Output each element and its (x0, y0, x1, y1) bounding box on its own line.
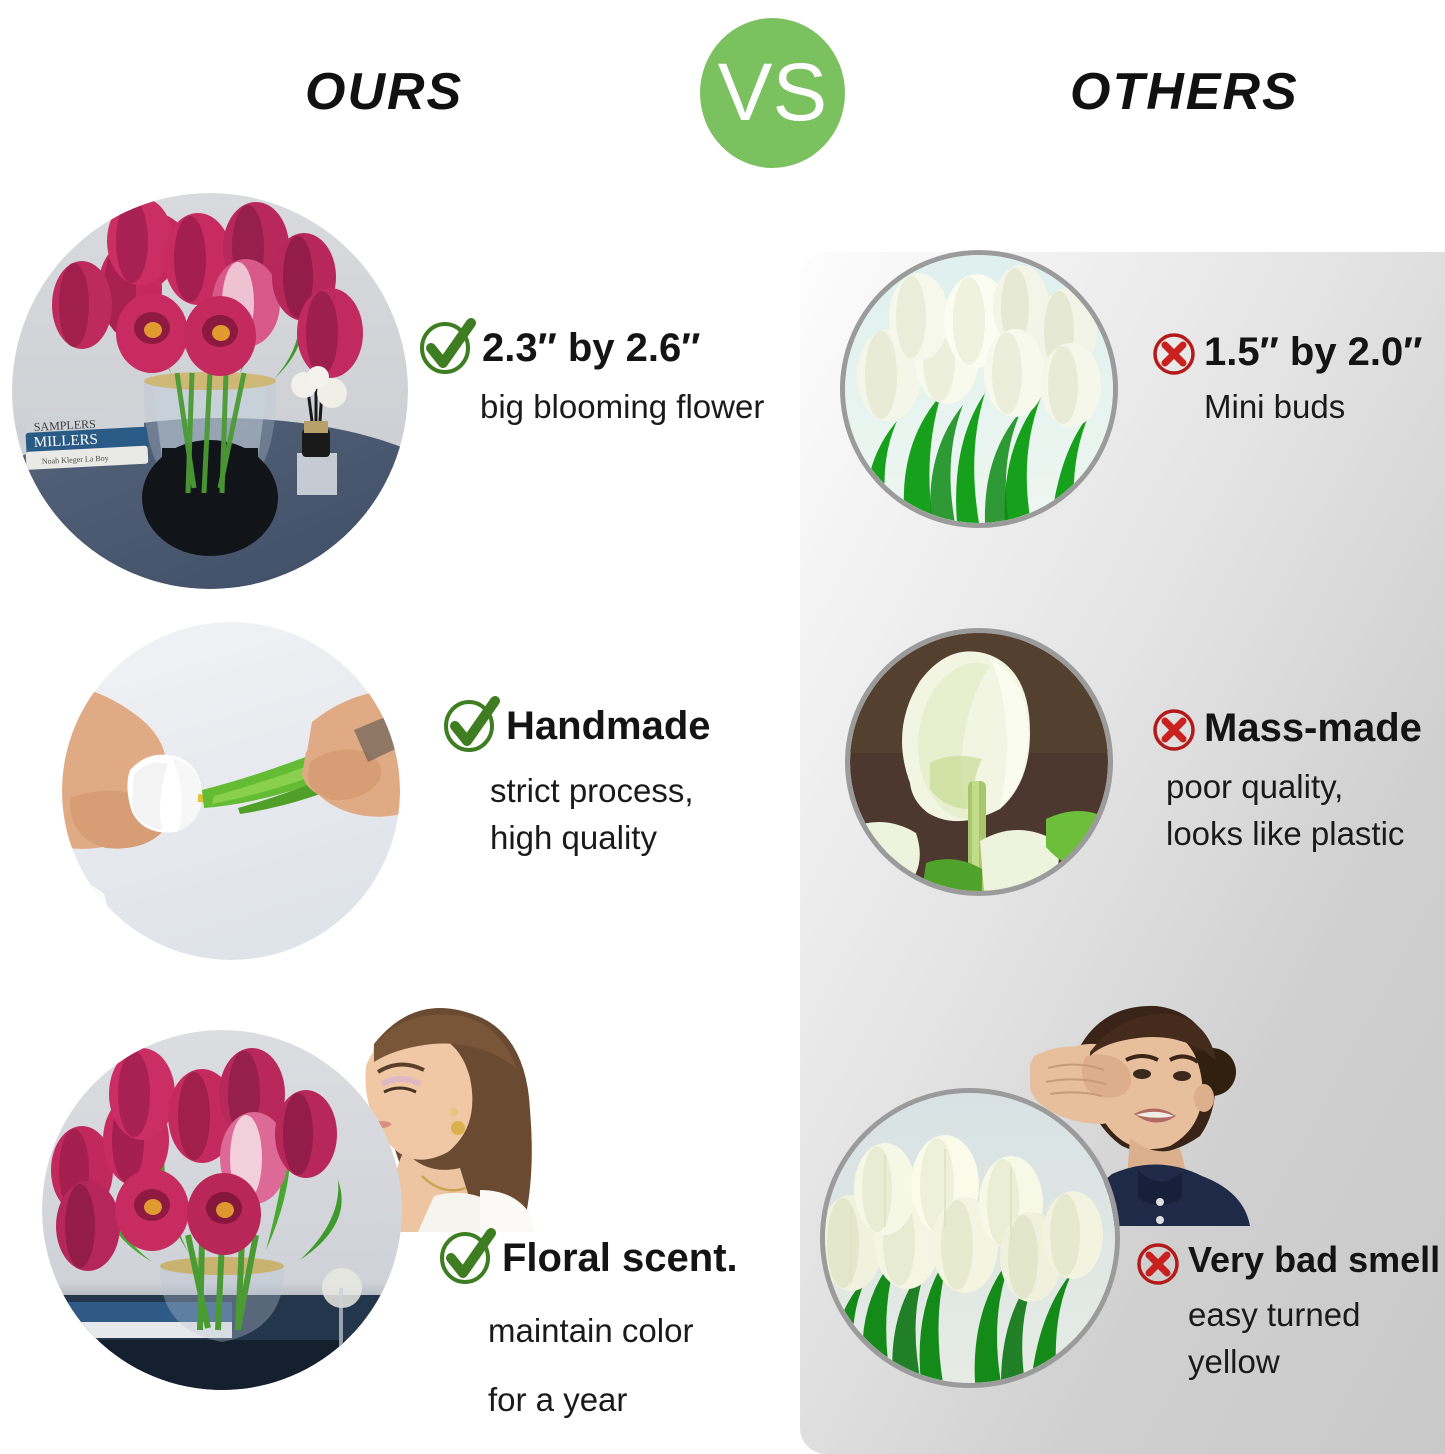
red-cross-icon (1152, 708, 1196, 752)
white-tulips-bunch-photo (820, 1088, 1120, 1388)
ours-feature-3: Floral scent. maintain color for a year (438, 1238, 738, 1424)
others-feature-3-title: Very bad smell (1188, 1242, 1440, 1278)
vs-badge: VS (700, 18, 845, 168)
handmade-hands-tulip-photo (62, 622, 400, 960)
others-feature-3: Very bad smell easy turned yellow (1136, 1242, 1440, 1386)
ours-feature-1-title: 2.3″ by 2.6″ (482, 328, 700, 368)
ours-feature-3-sub-1: maintain color (488, 1308, 738, 1355)
ours-feature-2-sub-2: high quality (490, 815, 711, 862)
others-feature-3-sub-1: easy turned (1188, 1292, 1440, 1339)
red-cross-icon (1152, 332, 1196, 376)
pink-tulips-bouquet-photo (42, 1030, 402, 1390)
others-feature-1-title: 1.5″ by 2.0″ (1204, 332, 1422, 372)
red-cross-icon (1136, 1242, 1180, 1286)
green-check-icon (438, 1228, 496, 1286)
others-feature-2-sub-2: looks like plastic (1166, 811, 1422, 858)
ours-column-heading: OURS (305, 62, 463, 122)
svg-text:MILLERS: MILLERS (33, 432, 98, 451)
green-check-icon (442, 696, 500, 754)
comparison-infographic: OURS VS OTHERS (0, 0, 1445, 1454)
ours-feature-2-title: Handmade (506, 706, 711, 746)
ours-feature-3-sub-2: for a year (488, 1377, 738, 1424)
vs-label: VS (718, 52, 827, 134)
ours-feature-1-sub-1: big blooming flower (480, 384, 764, 431)
others-feature-2-sub-1: poor quality, (1166, 764, 1422, 811)
ours-feature-3-title: Floral scent. (502, 1238, 738, 1278)
others-feature-1: 1.5″ by 2.0″ Mini buds (1152, 332, 1422, 431)
others-feature-1-sub-1: Mini buds (1204, 384, 1422, 431)
ours-feature-2-sub-1: strict process, (490, 768, 711, 815)
closeup-pale-tulip-photo (845, 628, 1113, 896)
ours-feature-1: 2.3″ by 2.6″ big blooming flower (418, 328, 764, 431)
ours-feature-2: Handmade strict process, high quality (442, 706, 711, 862)
others-feature-3-sub-2: yellow (1188, 1339, 1440, 1386)
pink-tulips-vase-photo: SAMPLERS MILLERS Noah Kleger La Boy (12, 193, 408, 589)
green-check-icon (418, 318, 476, 376)
white-tulips-photo (840, 250, 1118, 528)
others-column-heading: OTHERS (1070, 62, 1299, 122)
others-feature-2: Mass-made poor quality, looks like plast… (1152, 708, 1422, 858)
others-feature-2-title: Mass-made (1204, 708, 1422, 748)
